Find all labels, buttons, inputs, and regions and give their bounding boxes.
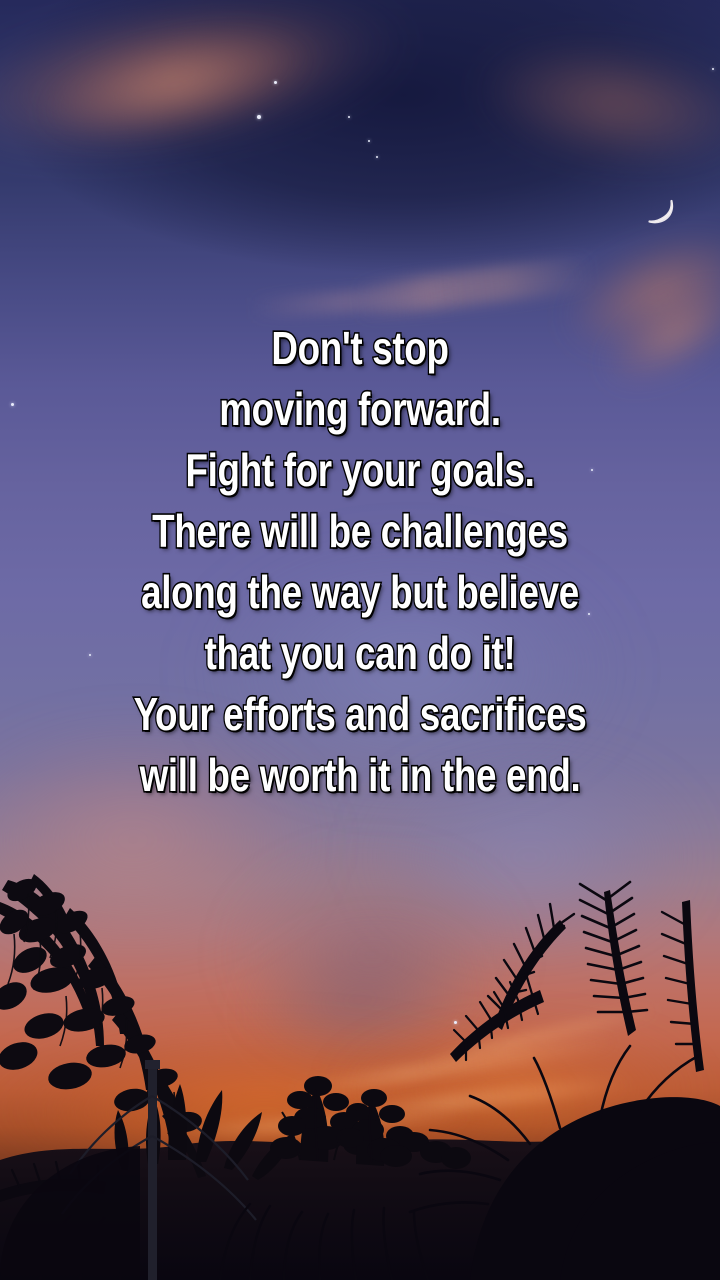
quote-line: will be worth it in the end. <box>72 745 648 806</box>
quote-line: Don't stop <box>72 318 648 379</box>
quote-text-block: Don't stopmoving forward.Fight for your … <box>0 318 720 806</box>
star <box>712 68 714 70</box>
quote-line: along the way but believe <box>72 562 648 623</box>
quote-line: There will be challenges <box>72 501 648 562</box>
quote-line: Your efforts and sacrifices <box>72 684 648 745</box>
crescent-moon-icon <box>646 196 680 230</box>
quote-line: moving forward. <box>72 379 648 440</box>
quote-line: that you can do it! <box>72 623 648 684</box>
star <box>274 81 277 84</box>
quote-line: Fight for your goals. <box>72 440 648 501</box>
wallpaper-canvas: Don't stopmoving forward.Fight for your … <box>0 0 720 1280</box>
star <box>368 140 370 142</box>
star <box>348 116 350 118</box>
star <box>376 156 378 158</box>
star <box>454 1021 457 1024</box>
star <box>257 115 261 119</box>
